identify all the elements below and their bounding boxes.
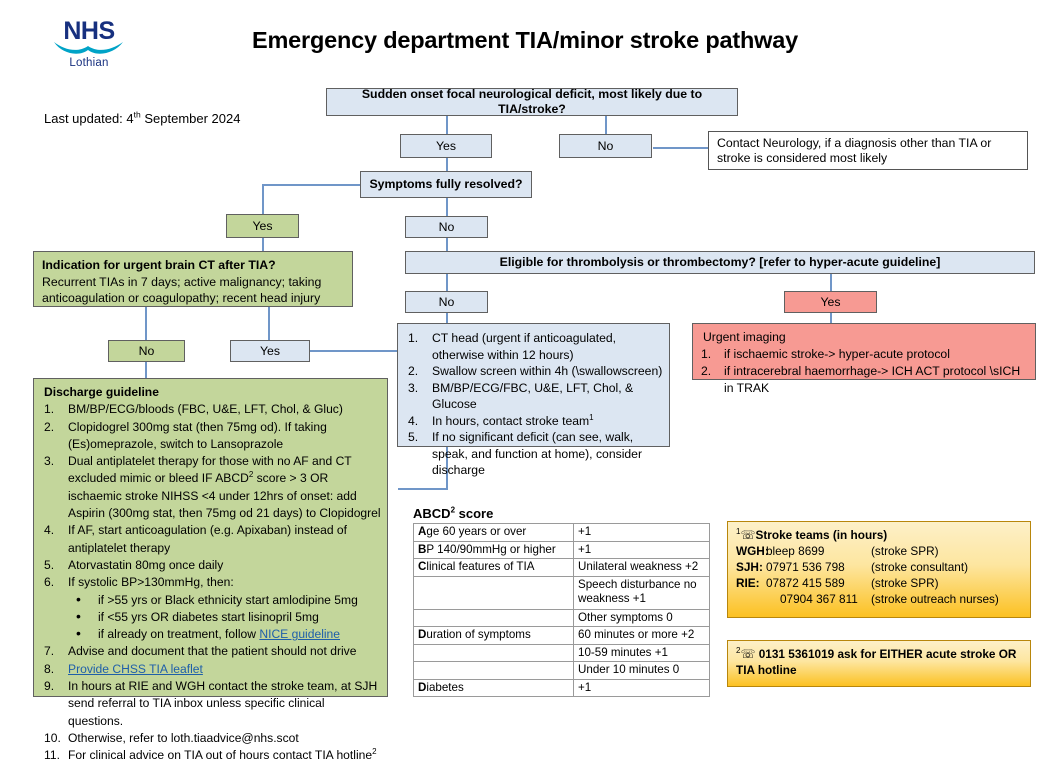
table-cell-label: Age 60 years or over [414,524,574,542]
list-item: Swallow screen within 4h (\swallowscreen… [402,363,663,380]
list-item: Clopidogrel 300mg stat (then 75mg od). I… [38,419,382,454]
list-item: if <55 yrs OR diabetes start lisinopril … [68,609,382,626]
table-cell-label [414,576,574,609]
contact-role: (stroke consultant) [871,560,968,574]
phone-icon: ☏ [740,647,755,661]
table-cell-value: Other symptoms 0 [574,609,710,627]
stroke-teams-heading: 1☏Stroke teams (in hours) [736,527,1022,543]
list-item: Provide CHSS TIA leaflet [38,661,382,678]
table-row: 10-59 minutes +1 [414,644,710,662]
list-item: if ischaemic stroke-> hyper-acute protoc… [699,346,1031,363]
table-row: BP 140/90mmHg or higher +1 [414,541,710,559]
table-row: Age 60 years or over +1 [414,524,710,542]
box-stroke-teams-contacts: 1☏Stroke teams (in hours) WGH: bleep 869… [727,521,1031,618]
list-item: For clinical advice on TIA out of hours … [38,747,382,764]
footnote-ref-1: 1 [589,412,593,421]
connector-ctind-yes [268,307,270,340]
contact-number: 07872 415 589 [766,575,871,591]
box-symptoms-resolved-label: Symptoms fully resolved? [369,177,522,192]
connector-ctind-no [145,307,147,340]
box-ct-indication: Indication for urgent brain CT after TIA… [33,251,353,307]
table-cell-value: 10-59 minutes +1 [574,644,710,662]
list-item: Otherwise, refer to loth.tiaadvice@nhs.s… [38,730,382,747]
box-q3-no-label: No [439,295,455,310]
connector-q3-no [446,273,448,291]
connector-ctno-discharge [145,362,147,378]
list-item: Atorvastatin 80mg once daily [38,557,382,574]
contact-line: RIE: 07872 415 589(stroke SPR) [736,575,1022,591]
list-item: In hours, contact stroke team1 [402,413,663,430]
page-title: Emergency department TIA/minor stroke pa… [195,27,855,54]
contact-number: bleep 8699 [766,543,871,559]
box-urgent-imaging-title: Urgent imaging [699,329,1031,346]
footnote-ref-2: 2 [372,747,376,756]
connector-q3-yes [830,273,832,291]
box-contact-neurology-text: Contact Neurology, if a diagnosis other … [717,136,991,165]
box-ct-indication-body: Recurrent TIAs in 7 days; active maligna… [42,274,344,307]
box-symptoms-resolved-question: Symptoms fully resolved? [360,171,532,198]
box-q3-yes: Yes [784,291,877,313]
table-cell-label: BP 140/90mmHg or higher [414,541,574,559]
contact-site: WGH: [736,543,766,559]
table-cell-value: Under 10 minutes 0 [574,662,710,680]
contact-role: (stroke SPR) [871,544,939,558]
table-cell-value: 60 minutes or more +2 [574,627,710,645]
list-item: If systolic BP>130mmHg, then: if >55 yrs… [38,574,382,643]
box-q1-no: No [559,134,652,158]
hotline-text: 0131 5361019 ask for EITHER acute stroke… [736,647,1016,677]
list-item: In hours at RIE and WGH contact the stro… [38,678,382,730]
connector-yes-q2 [446,158,448,171]
list-item-text: For clinical advice on TIA out of hours … [68,748,372,762]
box-q2-no-label: No [439,220,455,235]
connector-q2-no [446,198,448,216]
stroke-teams-title: Stroke teams (in hours) [755,528,887,542]
abcd-score-title: ABCD2 score [413,506,493,521]
table-cell-label: Diabetes [414,679,574,697]
table-cell-value: +1 [574,679,710,697]
box-sudden-onset-label: Sudden onset focal neurological deficit,… [334,87,730,117]
abcd-label-rest: uration of symptoms [426,628,530,641]
abcd-label-rest: P 140/90mmHg or higher [426,543,555,556]
box-q2-no: No [405,216,488,238]
connector-q1-yes [446,116,448,134]
list-item: if already on treatment, follow NICE gui… [68,626,382,643]
list-item: BM/BP/ECG/bloods (FBC, U&E, LFT, Chol, &… [38,401,382,418]
list-item: CT head (urgent if anticoagulated, other… [402,330,663,363]
table-row: Under 10 minutes 0 [414,662,710,680]
box-ct-indication-no-label: No [139,344,155,359]
last-updated-suffix: September 2024 [141,111,241,126]
box-discharge-guideline: Discharge guideline BM/BP/ECG/bloods (FB… [33,378,388,697]
abcd-title-tail: score [455,506,493,521]
list-item: Advise and document that the patient sho… [38,643,382,660]
box-ct-indication-yes-label: Yes [260,344,280,359]
hotline-text-line: 2☏ 0131 5361019 ask for EITHER acute str… [736,646,1022,678]
box-ct-indication-yes: Yes [230,340,310,362]
list-item: If no significant deficit (can see, walk… [402,429,663,479]
table-cell-label: Clinical features of TIA [414,559,574,577]
abcd-label-rest: iabetes [426,681,463,694]
box-urgent-imaging: Urgent imaging if ischaemic stroke-> hyp… [692,323,1036,380]
box-ct-indication-no: No [108,340,185,362]
box-ct-head-actions: CT head (urgent if anticoagulated, other… [397,323,670,447]
contact-site: RIE: [736,575,766,591]
connector-q1-no [605,116,607,134]
connector-ctyes-cthead [310,350,397,352]
connector-cthead-left [398,488,448,490]
list-item-text: If systolic BP>130mmHg, then: [68,575,234,589]
table-cell-label [414,609,574,627]
nhs-logo-subtitle: Lothian [46,57,132,69]
box-q1-yes-label: Yes [436,139,456,154]
box-contact-neurology: Contact Neurology, if a diagnosis other … [708,131,1028,170]
box-eligible-thrombolysis-question: Eligible for thrombolysis or thrombectom… [405,251,1035,274]
nhs-lothian-logo: NHS Lothian [46,18,132,74]
box-discharge-guideline-title: Discharge guideline [38,384,382,401]
box-q2-yes-label: Yes [252,219,272,234]
table-cell-label [414,644,574,662]
box-tia-hotline: 2☏ 0131 5361019 ask for EITHER acute str… [727,640,1031,687]
contact-role: (stroke outreach nurses) [871,592,999,606]
list-item-text: if already on treatment, follow [98,627,259,641]
contact-line: 07904 367 811(stroke outreach nurses) [736,591,1022,607]
contact-site: SJH: [736,559,766,575]
table-cell-label [414,662,574,680]
bp-treatment-sublist: if >55 yrs or Black ethnicity start amlo… [68,592,382,644]
abcd-label-rest: linical features of TIA [426,560,534,573]
table-row: Other symptoms 0 [414,609,710,627]
table-row: Diabetes +1 [414,679,710,697]
table-row: Speech disturbance no weakness +1 [414,576,710,609]
list-item: If AF, start anticoagulation (e.g. Apixa… [38,522,382,557]
connector-no-neurology [653,147,708,149]
table-cell-value: Unilateral weakness +2 [574,559,710,577]
abcd-title-main: ABCD [413,506,451,521]
connector-q2-left-h [262,184,360,186]
box-q1-no-label: No [598,139,614,154]
box-ct-indication-title: Indication for urgent brain CT after TIA… [42,257,344,274]
contact-role: (stroke SPR) [871,576,939,590]
list-item: if intracerebral haemorrhage-> ICH ACT p… [699,363,1031,397]
abcd-label-rest: ge 60 years or over [426,525,526,538]
list-item-text: In hours, contact stroke team [432,414,589,428]
box-eligible-thrombolysis-label: Eligible for thrombolysis or thrombectom… [500,255,941,270]
table-row: Clinical features of TIA Unilateral weak… [414,559,710,577]
nice-guideline-link[interactable]: NICE guideline [259,627,340,641]
ct-head-action-list: CT head (urgent if anticoagulated, other… [402,330,663,479]
box-q2-yes: Yes [226,214,299,238]
box-q3-no: No [405,291,488,313]
list-item: Dual antiplatelet therapy for those with… [38,453,382,522]
connector-no-q3 [446,238,448,251]
table-cell-value: +1 [574,524,710,542]
box-q1-yes: Yes [400,134,492,158]
connector-redyes-urgent [830,313,832,323]
discharge-guideline-list: BM/BP/ECG/bloods (FBC, U&E, LFT, Chol, &… [38,401,382,764]
connector-q2-left-v [262,184,264,214]
contact-line: SJH: 07971 536 798(stroke consultant) [736,559,1022,575]
phone-icon: ☏ [740,528,755,542]
chss-tia-leaflet-link[interactable]: Provide CHSS TIA leaflet [68,662,203,676]
box-q3-yes-label: Yes [820,295,840,310]
urgent-imaging-list: if ischaemic stroke-> hyper-acute protoc… [699,346,1031,397]
list-item: if >55 yrs or Black ethnicity start amlo… [68,592,382,609]
table-cell-value: Speech disturbance no weakness +1 [574,576,710,609]
abcd-score-table: Age 60 years or over +1 BP 140/90mmHg or… [413,523,710,697]
last-updated-ordinal: th [134,110,141,120]
table-cell-label: Duration of symptoms [414,627,574,645]
last-updated-text: Last updated: 4th September 2024 [44,111,240,126]
contact-number: 07971 536 798 [766,559,871,575]
table-row: Duration of symptoms 60 minutes or more … [414,627,710,645]
contact-number: 07904 367 811 [766,591,871,607]
list-item: BM/BP/ECG/FBC, U&E, LFT, Chol, & Glucose [402,380,663,413]
last-updated-prefix: Last updated: 4 [44,111,134,126]
contact-line: WGH: bleep 8699(stroke SPR) [736,543,1022,559]
connector-greenyes-ctind [262,238,264,251]
box-sudden-onset-question: Sudden onset focal neurological deficit,… [326,88,738,116]
table-cell-value: +1 [574,541,710,559]
